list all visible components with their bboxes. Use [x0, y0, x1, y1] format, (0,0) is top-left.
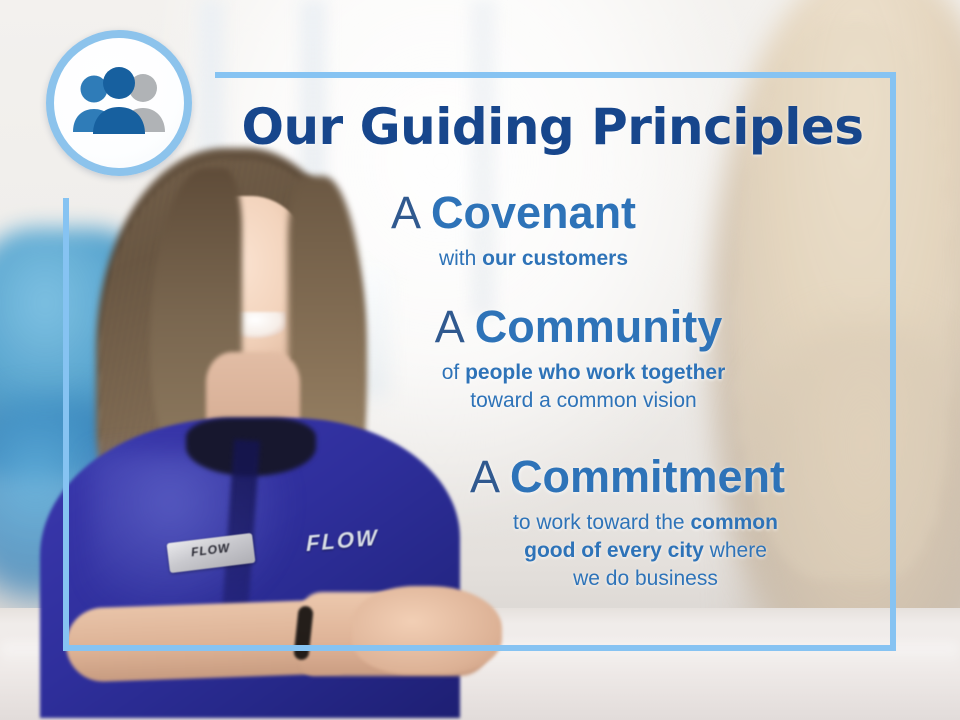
subtext-regular: where	[704, 539, 767, 562]
subtext-regular: to work toward the	[513, 511, 690, 534]
principle-keyword: Commitment	[510, 451, 785, 502]
subtext-line: toward a common vision	[277, 387, 890, 415]
principle-community: A Community of people who work together …	[215, 304, 890, 415]
principle-covenant-heading: A Covenant	[215, 190, 890, 237]
principle-article: A	[435, 301, 463, 352]
principle-keyword: Covenant	[431, 187, 636, 238]
group-people-icon	[67, 67, 171, 139]
principle-covenant-subtext: with our customers	[215, 245, 890, 273]
principle-covenant: A Covenant with our customers	[215, 190, 890, 273]
principle-commitment-heading: A Commitment	[215, 454, 890, 501]
principles-content: Our Guiding Principles A Covenant with o…	[215, 72, 890, 645]
subtext-line: we do business	[401, 565, 890, 593]
principle-community-subtext: of people who work together toward a com…	[215, 359, 890, 415]
frame-border-right	[890, 72, 896, 651]
frame-border-bottom	[63, 645, 896, 651]
principle-article: A	[391, 187, 419, 238]
subtext-regular: with	[439, 247, 482, 270]
page-title: Our Guiding Principles	[215, 102, 890, 152]
subtext-bold: good of every city	[524, 539, 704, 562]
principle-commitment: A Commitment to work toward the common g…	[215, 454, 890, 593]
principle-community-heading: A Community	[215, 304, 890, 351]
subtext-line: with our customers	[215, 245, 852, 273]
subtext-bold: common	[690, 511, 778, 534]
principle-article: A	[470, 451, 498, 502]
principle-keyword: Community	[475, 301, 723, 352]
subtext-line: good of every city where	[401, 537, 890, 565]
subtext-regular: of	[442, 361, 465, 384]
subtext-line: of people who work together	[277, 359, 890, 387]
principle-commitment-subtext: to work toward the common good of every …	[215, 509, 890, 593]
subtext-bold: our customers	[482, 247, 628, 270]
group-people-badge	[46, 30, 192, 176]
subtext-bold: people who work together	[465, 361, 725, 384]
frame-border-left	[63, 198, 69, 651]
guiding-principles-poster: FLOW FLOW Our Guiding Principles	[0, 0, 960, 720]
subtext-line: to work toward the common	[401, 509, 890, 537]
